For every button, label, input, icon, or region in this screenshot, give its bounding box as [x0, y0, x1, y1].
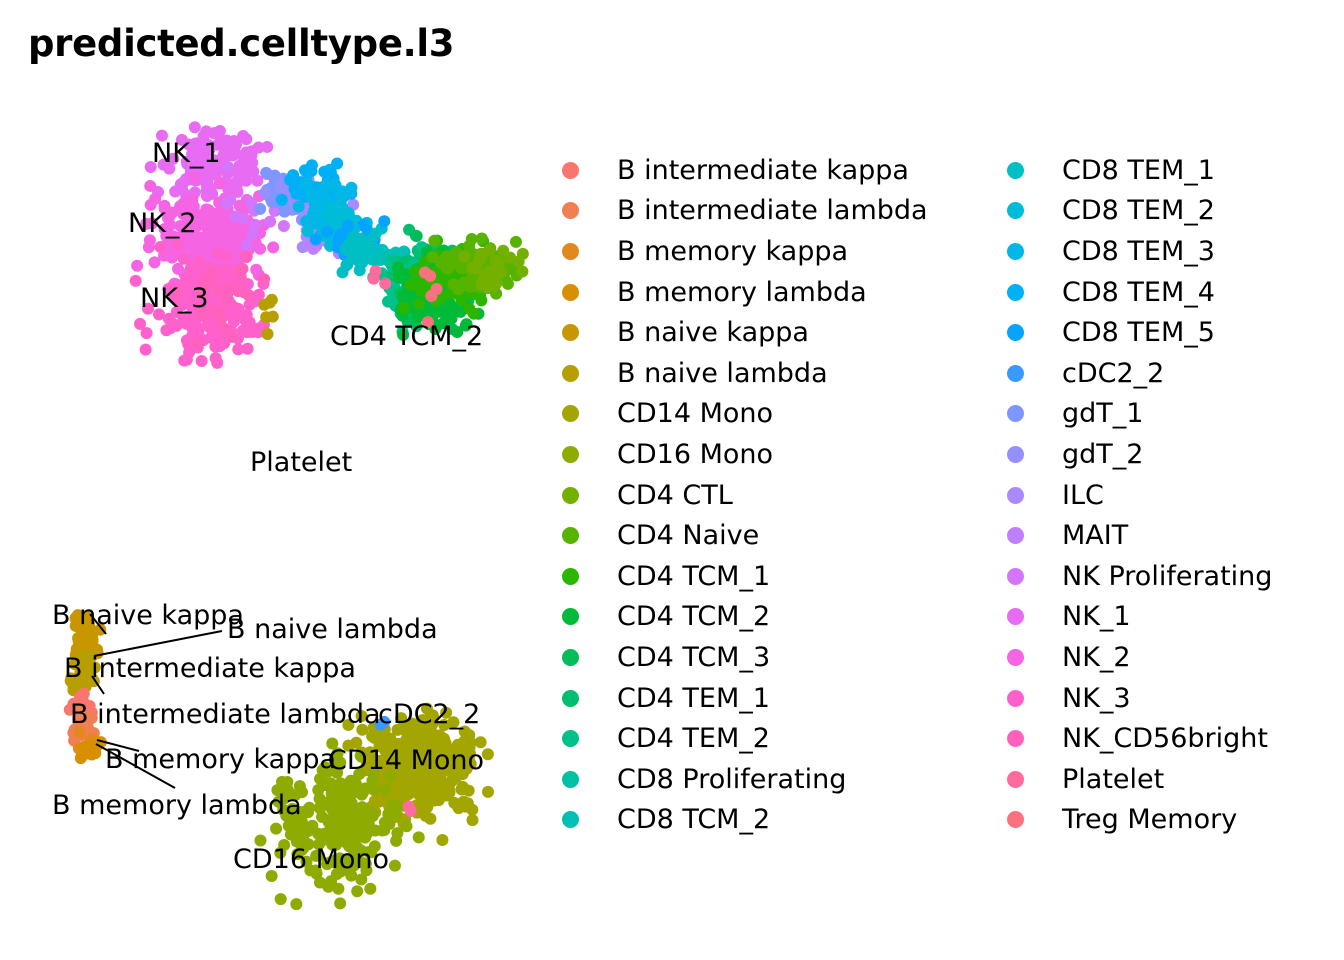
scatter-point — [211, 357, 223, 369]
legend-item-cd8-tem-2[interactable]: CD8 TEM_2 — [1000, 191, 1344, 232]
legend-swatch-icon — [562, 568, 579, 585]
scatter-point — [335, 190, 347, 202]
scatter-point — [275, 893, 287, 905]
scatter-point — [254, 243, 266, 255]
scatter-point — [399, 790, 411, 802]
scatter-point — [264, 216, 276, 228]
scatter-point — [379, 278, 391, 290]
legend-item-cd4-tcm-2[interactable]: CD4 TCM_2 — [555, 597, 995, 638]
scatter-point — [281, 776, 293, 788]
scatter-point — [458, 250, 470, 262]
scatter-point — [483, 244, 495, 256]
scatter-point — [149, 193, 161, 205]
legend-label: CD14 Mono — [617, 400, 773, 427]
scatter-point — [334, 897, 346, 909]
legend-item-nk-cd56bright[interactable]: NK_CD56bright — [1000, 718, 1344, 759]
scatter-point — [424, 813, 436, 825]
scatter-point — [220, 250, 232, 262]
scatter-point — [204, 322, 216, 334]
legend-swatch-icon — [1007, 405, 1024, 422]
scatter-point — [413, 831, 425, 843]
scatter-point — [368, 273, 380, 285]
scatter-point — [293, 201, 305, 213]
scatter-point — [131, 260, 143, 272]
cluster-label-platelet: Platelet — [250, 449, 352, 476]
scatter-point — [456, 294, 468, 306]
page-title: predicted.celltype.l3 — [28, 22, 454, 65]
scatter-point — [214, 178, 226, 190]
legend-item-cd8-proliferating[interactable]: CD8 Proliferating — [555, 759, 995, 800]
scatter-point — [417, 790, 429, 802]
scatter-point — [410, 230, 422, 242]
legend-swatch-icon — [562, 202, 579, 219]
legend-item-treg-memory[interactable]: Treg Memory — [1000, 800, 1344, 841]
scatter-point — [471, 263, 483, 275]
scatter-point — [478, 272, 490, 284]
legend-item-platelet[interactable]: Platelet — [1000, 759, 1344, 800]
legend-item-mait[interactable]: MAIT — [1000, 515, 1344, 556]
scatter-point — [261, 141, 273, 153]
cluster-label-cd14-mono: CD14 Mono — [328, 747, 484, 774]
legend-swatch-icon — [562, 730, 579, 747]
scatter-point — [242, 289, 254, 301]
scatter-point — [357, 787, 369, 799]
scatter-point — [351, 885, 363, 897]
cluster-label-b-intermediate-kappa: B intermediate kappa — [64, 655, 356, 682]
legend-label: CD4 TCM_1 — [617, 563, 770, 590]
legend-label: B intermediate kappa — [617, 157, 909, 184]
legend-label: CD4 TCM_2 — [617, 603, 770, 630]
legend-swatch-icon — [1007, 365, 1024, 382]
scatter-point — [426, 251, 438, 263]
scatter-point — [468, 308, 480, 320]
scatter-point — [343, 238, 355, 250]
scatter-point — [241, 239, 253, 251]
scatter-point — [171, 239, 183, 251]
legend-swatch-icon — [1007, 730, 1024, 747]
cluster-label-b-memory-kappa: B memory kappa — [105, 746, 336, 773]
scatter-point — [196, 355, 208, 367]
scatter-point — [283, 820, 295, 832]
scatter-point — [510, 236, 522, 248]
legend-label: B intermediate lambda — [617, 197, 928, 224]
scatter-point — [330, 832, 342, 844]
legend-item-cd4-tem-2[interactable]: CD4 TEM_2 — [555, 718, 995, 759]
legend-item-b-naive-lambda[interactable]: B naive lambda — [555, 353, 995, 394]
legend-swatch-icon — [562, 162, 579, 179]
scatter-point — [267, 241, 279, 253]
scatter-point — [318, 166, 330, 178]
scatter-point — [448, 253, 460, 265]
scatter-point — [379, 784, 391, 796]
legend-swatch-icon — [562, 771, 579, 788]
cluster-label-cd4-tcm-2: CD4 TCM_2 — [330, 323, 483, 350]
scatter-point — [428, 235, 440, 247]
legend-label: CD4 TEM_2 — [617, 725, 770, 752]
scatter-point — [435, 789, 447, 801]
scatter-point — [254, 203, 266, 215]
scatter-point — [336, 796, 348, 808]
scatter-point — [489, 280, 501, 292]
legend-swatch-icon — [562, 243, 579, 260]
scatter-point — [220, 295, 232, 307]
scatter-point — [345, 182, 357, 194]
legend-swatch-icon — [1007, 568, 1024, 585]
legend-swatch-icon — [1007, 649, 1024, 666]
scatter-point — [229, 211, 241, 223]
scatter-point — [306, 820, 318, 832]
scatter-point — [364, 883, 376, 895]
scatter-point — [452, 283, 464, 295]
scatter-point — [332, 883, 344, 895]
legend-label: gdT_2 — [1062, 441, 1143, 468]
scatter-point — [178, 253, 190, 265]
scatter-point — [134, 318, 146, 330]
scatter-point — [228, 283, 240, 295]
legend-item-cd4-tem-1[interactable]: CD4 TEM_1 — [555, 678, 995, 719]
scatter-point — [249, 219, 261, 231]
scatter-point — [233, 167, 245, 179]
legend-swatch-icon — [1007, 162, 1024, 179]
scatter-point — [290, 898, 302, 910]
legend-label: CD8 TEM_2 — [1062, 197, 1215, 224]
legend-label: ILC — [1062, 482, 1104, 509]
legend-item-cd4-tcm-1[interactable]: CD4 TCM_1 — [555, 556, 995, 597]
scatter-point — [497, 245, 509, 257]
scatter-point — [224, 194, 236, 206]
scatter-point — [424, 270, 436, 282]
legend-swatch-icon — [562, 649, 579, 666]
legend-swatch-icon — [562, 365, 579, 382]
cluster-label-b-naive-lambda: B naive lambda — [227, 616, 438, 643]
legend-label: cDC2_2 — [1062, 360, 1164, 387]
legend-item-cdc2-2[interactable]: cDC2_2 — [1000, 353, 1344, 394]
legend-item-cd4-ctl[interactable]: CD4 CTL — [555, 475, 995, 516]
legend-swatch-icon — [1007, 243, 1024, 260]
scatter-point — [73, 635, 85, 647]
legend-label: CD4 Naive — [617, 522, 759, 549]
scatter-point — [414, 283, 426, 295]
scatter-point — [398, 302, 410, 314]
scatter-point — [309, 198, 321, 210]
legend-item-gdt-1[interactable]: gdT_1 — [1000, 394, 1344, 435]
legend-item-ilc[interactable]: ILC — [1000, 475, 1344, 516]
legend-label: CD16 Mono — [617, 441, 773, 468]
legend-swatch-icon — [1007, 608, 1024, 625]
scatter-point — [378, 215, 390, 227]
legend-item-nk-2[interactable]: NK_2 — [1000, 637, 1344, 678]
scatter-point — [144, 180, 156, 192]
legend-item-cd8-tcm-2[interactable]: CD8 TCM_2 — [555, 800, 995, 841]
legend-swatch-icon — [1007, 811, 1024, 828]
scatter-point — [300, 215, 312, 227]
scatter-point — [356, 252, 368, 264]
scatter-point — [305, 187, 317, 199]
scatter-point — [267, 311, 279, 323]
scatter-point — [260, 167, 272, 179]
scatter-point — [312, 211, 324, 223]
legend-label: CD8 TEM_5 — [1062, 319, 1215, 346]
scatter-point — [374, 796, 386, 808]
scatter-point — [392, 261, 404, 273]
scatter-point — [270, 823, 282, 835]
scatter-point — [494, 267, 506, 279]
legend-column-left: B intermediate kappaB intermediate lambd… — [555, 150, 995, 840]
scatter-point — [201, 179, 213, 191]
legend-swatch-icon — [1007, 284, 1024, 301]
scatter-point — [401, 820, 413, 832]
scatter-point — [228, 140, 240, 152]
scatter-point — [243, 158, 255, 170]
scatter-point — [463, 785, 475, 797]
legend-swatch-icon — [562, 446, 579, 463]
scatter-point — [178, 355, 190, 367]
scatter-point — [387, 799, 399, 811]
scatter-point — [389, 860, 401, 872]
legend-item-b-naive-kappa[interactable]: B naive kappa — [555, 312, 995, 353]
legend-label: NK_CD56bright — [1062, 725, 1268, 752]
scatter-point — [293, 825, 305, 837]
scatter-point — [321, 226, 333, 238]
legend-label: CD4 CTL — [617, 482, 733, 509]
scatter-point — [363, 818, 375, 830]
scatter-point — [166, 317, 178, 329]
legend-item-b-memory-kappa[interactable]: B memory kappa — [555, 231, 995, 272]
legend-label: B memory kappa — [617, 238, 848, 265]
legend-swatch-icon — [562, 284, 579, 301]
scatter-point — [316, 811, 328, 823]
scatter-point — [365, 807, 377, 819]
legend-label: CD8 Proliferating — [617, 766, 846, 793]
legend-swatch-icon — [1007, 487, 1024, 504]
scatter-point — [240, 133, 252, 145]
legend-label: Treg Memory — [1062, 806, 1237, 833]
scatter-point — [262, 328, 274, 340]
cluster-label-b-naive-kappa: B naive kappa — [52, 602, 244, 629]
legend-item-nk-1[interactable]: NK_1 — [1000, 597, 1344, 638]
scatter-point — [80, 746, 92, 758]
legend-item-b-intermediate-lambda[interactable]: B intermediate lambda — [555, 191, 995, 232]
legend-item-cd4-tcm-3[interactable]: CD4 TCM_3 — [555, 637, 995, 678]
scatter-point — [229, 225, 241, 237]
legend-label: CD8 TCM_2 — [617, 806, 770, 833]
scatter-point — [154, 241, 166, 253]
legend-swatch-icon — [562, 487, 579, 504]
legend-label: CD4 TEM_1 — [617, 685, 770, 712]
legend-label: CD4 TCM_3 — [617, 644, 770, 671]
scatter-point — [310, 233, 322, 245]
scatter-point — [352, 810, 364, 822]
legend-item-cd14-mono[interactable]: CD14 Mono — [555, 394, 995, 435]
scatter-point — [222, 161, 234, 173]
legend-item-cd8-tem-3[interactable]: CD8 TEM_3 — [1000, 231, 1344, 272]
scatter-point — [276, 194, 288, 206]
scatter-point — [390, 811, 402, 823]
legend-item-cd16-mono[interactable]: CD16 Mono — [555, 434, 995, 475]
cluster-label-cd16-mono: CD16 Mono — [233, 846, 389, 873]
cluster-label-b-memory-lambda: B memory lambda — [52, 792, 302, 819]
scatter-point — [202, 245, 214, 257]
legend-label: CD8 TEM_4 — [1062, 279, 1215, 306]
scatter-point — [405, 805, 417, 817]
scatter-point — [341, 830, 353, 842]
scatter-point — [241, 250, 253, 262]
scatter-point — [382, 296, 394, 308]
scatter-point — [331, 215, 343, 227]
scatter-point — [343, 207, 355, 219]
scatter-point — [513, 256, 525, 268]
scatter-point — [413, 298, 425, 310]
legend-swatch-icon — [1007, 446, 1024, 463]
legend-label: gdT_1 — [1062, 400, 1143, 427]
scatter-point — [370, 228, 382, 240]
legend-swatch-icon — [1007, 202, 1024, 219]
legend-label: CD8 TEM_3 — [1062, 238, 1215, 265]
legend-item-cd8-tem-1[interactable]: CD8 TEM_1 — [1000, 150, 1344, 191]
scatter-point — [325, 202, 337, 214]
scatter-point — [215, 314, 227, 326]
scatter-point — [331, 158, 343, 170]
scatter-point — [232, 343, 244, 355]
scatter-point — [140, 344, 152, 356]
legend-label: CD8 TEM_1 — [1062, 157, 1215, 184]
scatter-point — [444, 777, 456, 789]
legend-swatch-icon — [562, 405, 579, 422]
scatter-point — [328, 821, 340, 833]
legend-label: NK_3 — [1062, 685, 1131, 712]
legend-swatch-icon — [1007, 771, 1024, 788]
scatter-point — [278, 220, 290, 232]
legend-label: Platelet — [1062, 766, 1164, 793]
legend-label: NK Proliferating — [1062, 563, 1272, 590]
legend-swatch-icon — [1007, 527, 1024, 544]
legend-item-b-memory-lambda[interactable]: B memory lambda — [555, 272, 995, 313]
cluster-label-nk-1: NK_1 — [152, 140, 221, 167]
legend-swatch-icon — [562, 608, 579, 625]
scatter-point — [287, 169, 299, 181]
scatter-point — [180, 315, 192, 327]
scatter-point — [250, 264, 262, 276]
umap-scatter-plot: NK_1NK_2NK_3CD4 TCM_2PlateletB naive kap… — [0, 96, 545, 926]
scatter-point — [376, 825, 388, 837]
cluster-label-b-intermediate-lambda: B intermediate lambda — [70, 701, 381, 728]
legend-item-cd4-naive[interactable]: CD4 Naive — [555, 515, 995, 556]
scatter-point — [218, 263, 230, 275]
legend-swatch-icon — [562, 690, 579, 707]
legend-column-right: CD8 TEM_1CD8 TEM_2CD8 TEM_3CD8 TEM_4CD8 … — [1000, 150, 1344, 840]
legend-label: B naive lambda — [617, 360, 828, 387]
legend-item-gdt-2[interactable]: gdT_2 — [1000, 434, 1344, 475]
scatter-point — [266, 294, 278, 306]
scatter-point — [191, 337, 203, 349]
scatter-point — [502, 278, 514, 290]
scatter-point — [225, 331, 237, 343]
legend-item-nk-proliferating[interactable]: NK Proliferating — [1000, 556, 1344, 597]
scatter-point — [209, 227, 221, 239]
legend-label: B memory lambda — [617, 279, 867, 306]
scatter-point — [189, 121, 201, 133]
legend-swatch-icon — [1007, 690, 1024, 707]
scatter-point — [340, 259, 352, 271]
scatter-point — [467, 814, 479, 826]
scatter-point — [258, 273, 270, 285]
legend-item-cd8-tem-4[interactable]: CD8 TEM_4 — [1000, 272, 1344, 313]
legend-label: MAIT — [1062, 522, 1128, 549]
legend-label: NK_2 — [1062, 644, 1131, 671]
legend-item-nk-3[interactable]: NK_3 — [1000, 678, 1344, 719]
scatter-point — [489, 255, 501, 267]
legend-item-cd8-tem-5[interactable]: CD8 TEM_5 — [1000, 312, 1344, 353]
scatter-point — [462, 797, 474, 809]
scatter-point — [482, 786, 494, 798]
scatter-point — [396, 291, 408, 303]
cluster-label-nk-2: NK_2 — [128, 210, 197, 237]
legend-label: NK_1 — [1062, 603, 1131, 630]
cluster-label-cdc2-2: cDC2_2 — [378, 701, 480, 728]
scatter-point — [193, 256, 205, 268]
legend-label: B naive kappa — [617, 319, 809, 346]
legend-swatch-icon — [562, 527, 579, 544]
scatter-point — [448, 797, 460, 809]
legend-swatch-icon — [1007, 324, 1024, 341]
scatter-point — [431, 283, 443, 295]
scatter-point — [237, 263, 249, 275]
scatter-point — [436, 834, 448, 846]
scatter-point — [322, 881, 334, 893]
scatter-point — [188, 172, 200, 184]
legend-item-b-intermediate-kappa[interactable]: B intermediate kappa — [555, 150, 995, 191]
scatter-point — [466, 233, 478, 245]
cluster-label-nk-3: NK_3 — [140, 285, 209, 312]
scatter-point — [259, 187, 271, 199]
legend-swatch-icon — [562, 324, 579, 341]
legend-swatch-icon — [562, 811, 579, 828]
legend: B intermediate kappaB intermediate lambd… — [555, 150, 1344, 880]
